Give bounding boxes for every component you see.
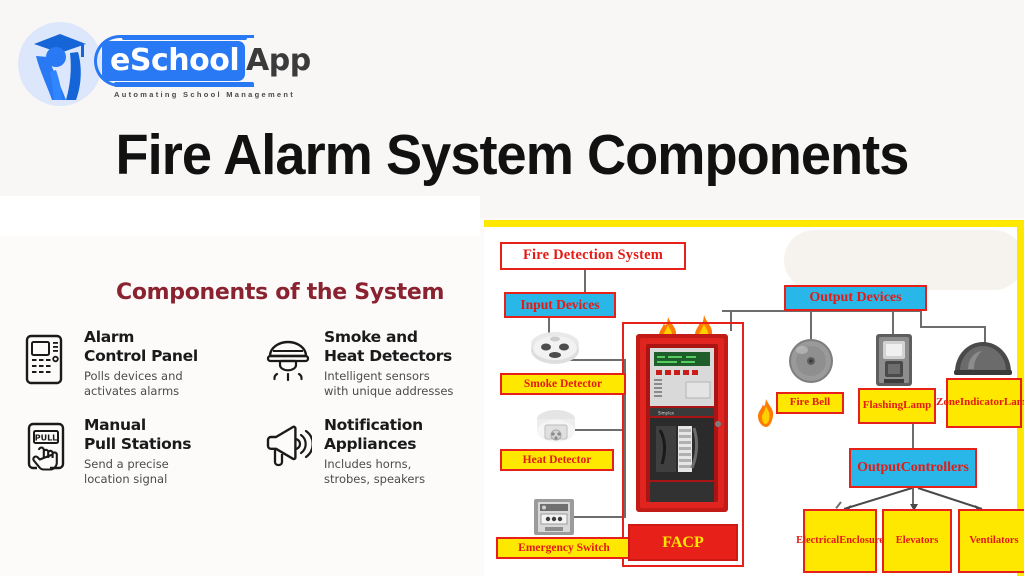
zone-indicator-lamp-image xyxy=(952,328,1014,380)
feature-desc-line1: Includes horns, xyxy=(324,457,411,471)
feature-desc: Polls devices and activates alarms xyxy=(84,369,256,399)
page-title: Fire Alarm System Components xyxy=(26,122,999,188)
feature-desc-line1: Polls devices and xyxy=(84,369,183,383)
connector-line xyxy=(584,270,586,292)
smoke-detector-icon xyxy=(264,334,312,386)
feature-desc-line1: Intelligent sensors xyxy=(324,369,430,383)
feature-title: Alarm Control Panel xyxy=(84,328,254,366)
megaphone-icon xyxy=(264,422,312,474)
node-zone-indicator-lamp[interactable]: Zone Indicator Lamp xyxy=(946,378,1022,428)
feature-desc: Includes horns, strobes, speakers xyxy=(324,457,496,487)
feature-manual-pull-stations: PULL Manual Pull Stations Send a precise… xyxy=(16,416,246,502)
feature-title: Smoke and Heat Detectors xyxy=(324,328,494,366)
node-output-devices[interactable]: Output Devices xyxy=(784,285,927,311)
feature-title: Manual Pull Stations xyxy=(84,416,254,454)
feature-desc-line2: activates alarms xyxy=(84,384,179,398)
node-electrical-enclosure[interactable]: Electrical Enclosure xyxy=(803,509,877,573)
feature-title-line2: Heat Detectors xyxy=(324,347,452,365)
node-facp[interactable]: FACP xyxy=(628,524,738,561)
feature-desc: Send a precise location signal xyxy=(84,457,256,487)
facp-cabinet-image: Simplex xyxy=(634,330,730,516)
control-panel-icon xyxy=(24,334,72,386)
feature-title-line1: Alarm xyxy=(84,328,134,346)
feature-title-line2: Control Panel xyxy=(84,347,198,365)
flashing-lamp-image xyxy=(872,332,916,388)
logo-wordmark-secondary: App xyxy=(246,43,311,79)
pull-station-icon: PULL xyxy=(24,422,72,474)
node-flashing-lamp[interactable]: Flashing Lamp xyxy=(858,388,936,424)
node-electrical-enclosure-line1: Electrical xyxy=(796,535,839,546)
feature-desc-line2: location signal xyxy=(84,472,167,486)
feature-title-line1: Smoke and xyxy=(324,328,418,346)
svg-text:Simplex: Simplex xyxy=(658,411,675,416)
components-heading: Components of the System xyxy=(116,280,444,305)
logo-wordmark-primary: eSchool xyxy=(110,43,239,79)
node-output-controllers-line1: Output xyxy=(857,460,901,475)
node-fire-detection-system[interactable]: Fire Detection System xyxy=(500,242,686,270)
emergency-switch-device-image xyxy=(530,497,578,539)
components-panel: Components of the System Alarm Con xyxy=(8,270,476,510)
node-flashing-lamp-line1: Flashing xyxy=(863,400,903,412)
feature-title-line1: Manual xyxy=(84,416,146,434)
feature-desc-line1: Send a precise xyxy=(84,457,169,471)
svg-text:PULL: PULL xyxy=(35,434,58,443)
node-zone-lamp-line2: Indicator xyxy=(960,397,1004,409)
feature-title: Notification Appliances xyxy=(324,416,494,454)
diagram-background-wash xyxy=(784,230,1024,290)
feature-desc-line2: with unique addresses xyxy=(324,384,453,398)
white-divider-strip xyxy=(0,196,480,236)
node-heat-detector[interactable]: Heat Detector xyxy=(500,449,614,471)
feature-title-line2: Appliances xyxy=(324,435,416,453)
slide-canvas: eSchool App Automating School Management… xyxy=(0,0,1024,576)
logo-top-bar xyxy=(122,36,247,40)
feature-title-line2: Pull Stations xyxy=(84,435,191,453)
node-output-controllers[interactable]: Output Controllers xyxy=(849,448,977,488)
feature-title-line1: Notification xyxy=(324,416,423,434)
node-electrical-enclosure-line2: Enclosure xyxy=(839,535,884,546)
node-fire-bell[interactable]: Fire Bell xyxy=(776,392,844,414)
feature-desc-line2: strobes, speakers xyxy=(324,472,425,486)
flame-icon xyxy=(756,398,776,428)
feature-desc: Intelligent sensors with unique addresse… xyxy=(324,369,496,399)
heat-detector-device-image xyxy=(528,408,584,452)
diagram-top-accent-bar xyxy=(484,220,1024,227)
eschool-app-logo: eSchool App Automating School Management xyxy=(10,12,310,104)
smoke-detector-device-image xyxy=(524,330,586,372)
node-input-devices[interactable]: Input Devices xyxy=(504,292,616,318)
node-zone-lamp-line3: Lamp xyxy=(1004,397,1024,409)
logo-tagline: Automating School Management xyxy=(114,90,295,99)
node-zone-lamp-line1: Zone xyxy=(936,397,960,409)
node-smoke-detector[interactable]: Smoke Detector xyxy=(500,373,626,395)
node-elevators[interactable]: Elevators xyxy=(882,509,952,573)
feature-notification-appliances: Notification Appliances Includes horns, … xyxy=(256,416,486,502)
feature-smoke-heat-detectors: Smoke and Heat Detectors Intelligent sen… xyxy=(256,328,486,414)
graduate-figure-icon xyxy=(26,26,98,102)
node-output-controllers-line2: Controllers xyxy=(901,460,969,475)
logo-bottom-bar xyxy=(114,82,254,87)
node-ventilators[interactable]: Ventilators xyxy=(958,509,1024,573)
node-flashing-lamp-line2: Lamp xyxy=(903,400,931,412)
feature-alarm-control-panel: Alarm Control Panel Polls devices and ac… xyxy=(16,328,246,414)
node-emergency-switch[interactable]: Emergency Switch xyxy=(496,537,632,559)
connector-line xyxy=(912,423,914,449)
fire-bell-image xyxy=(786,336,836,386)
fire-detection-system-diagram: Simplex xyxy=(484,220,1024,576)
